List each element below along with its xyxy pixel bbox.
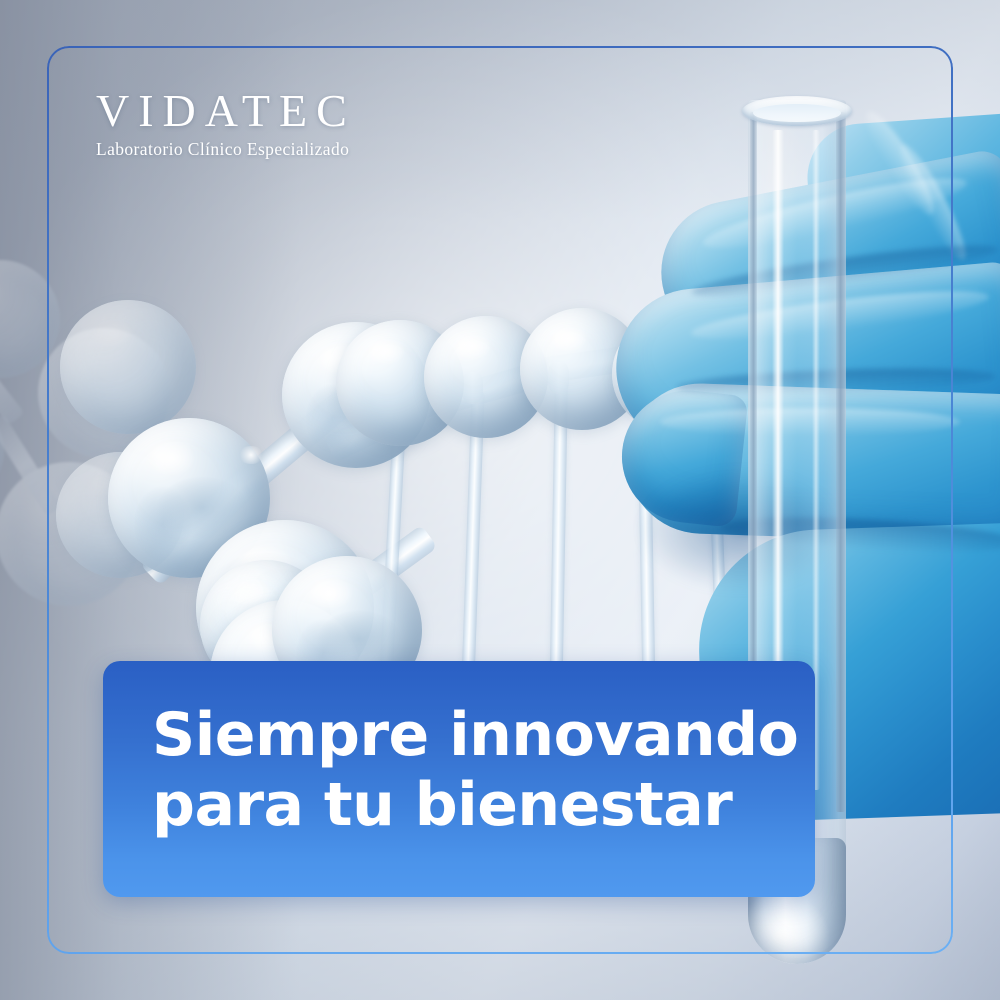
brand-name: VIDATEC bbox=[96, 88, 516, 134]
headline-line-1: Siempre innovando bbox=[152, 700, 792, 770]
brand-tagline: Laboratorio Clínico Especializado bbox=[96, 141, 516, 159]
headline-text: Siempre innovando para tu bienestar bbox=[152, 700, 792, 840]
brand-logo: VIDATEC Laboratorio Clínico Especializad… bbox=[96, 88, 516, 159]
social-post-canvas: VIDATEC Laboratorio Clínico Especializad… bbox=[0, 0, 1000, 1000]
headline-banner: Siempre innovando para tu bienestar bbox=[103, 661, 815, 897]
headline-line-2: para tu bienestar bbox=[152, 770, 792, 840]
